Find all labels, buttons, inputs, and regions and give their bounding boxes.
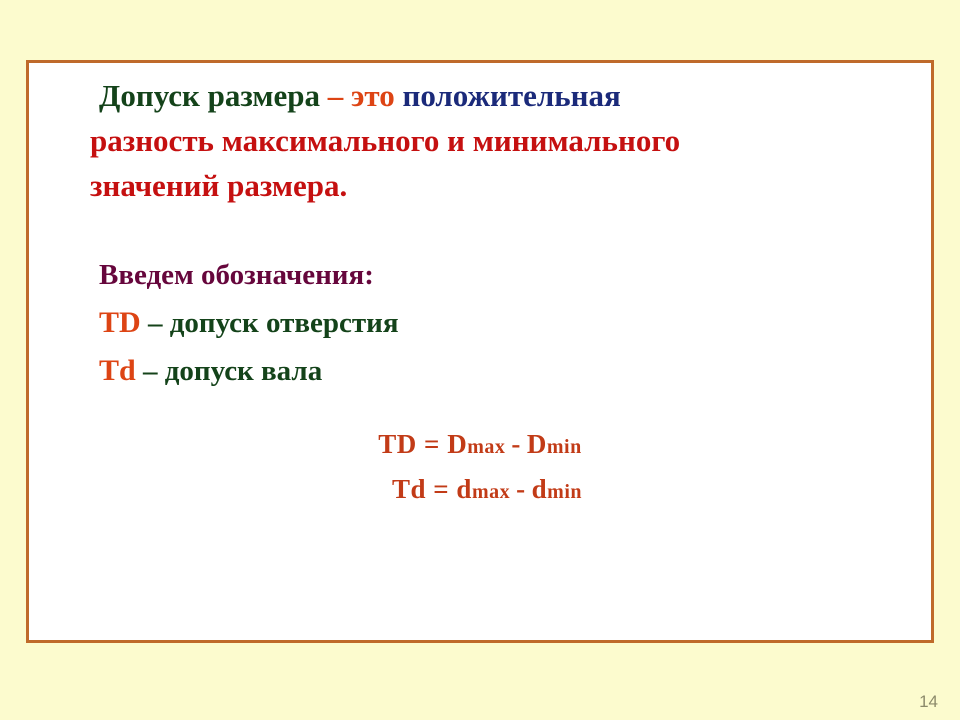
definition-line-1: Допуск размера – это положительная — [59, 73, 909, 118]
notation-item-td-shaft: Td – допуск вала — [99, 347, 859, 395]
formula-0-term2-sub: min — [547, 436, 582, 458]
definition-block: Допуск размера – это положительная разно… — [59, 73, 909, 208]
definition-copula: это — [351, 78, 395, 113]
definition-adjective: положительная — [402, 78, 620, 113]
formula-1-term1-sub: max — [472, 481, 510, 503]
formula-hole-tolerance: TD = Dmax-Dmin — [29, 423, 931, 468]
formula-shaft-tolerance: Td = dmax-dmin — [29, 468, 931, 513]
formula-0-equals: = — [417, 429, 447, 459]
formula-0-term2-base: D — [527, 429, 547, 459]
formula-1-term1-base: d — [456, 474, 472, 504]
formula-1-lhs: Td — [392, 474, 426, 504]
formula-block: TD = Dmax-Dmin Td = dmax-dmin — [29, 423, 931, 513]
notation-heading: Введем обозначения: — [99, 251, 859, 299]
formula-0-lhs: TD — [378, 429, 417, 459]
slide-content: Допуск размера – это положительная разно… — [29, 63, 931, 640]
slide-panel: Допуск размера – это положительная разно… — [26, 60, 934, 643]
notation-meaning-0: допуск отверстия — [170, 307, 399, 339]
definition-line-3: значений размера. — [59, 163, 909, 208]
notation-meaning-1: допуск вала — [165, 355, 323, 387]
notation-dash-0: – — [141, 307, 170, 339]
definition-term: Допуск размера — [99, 78, 320, 113]
definition-line-2: разность максимального и минимального — [59, 118, 909, 163]
formula-1-equals: = — [426, 474, 456, 504]
formula-0-term1-base: D — [447, 429, 467, 459]
notation-symbol-TD: TD — [99, 306, 141, 339]
definition-dash: – — [320, 78, 351, 113]
formula-0-term1-sub: max — [467, 436, 505, 458]
notation-item-td-hole: TD – допуск отверстия — [99, 299, 859, 347]
formula-1-operator: - — [510, 474, 532, 504]
notation-symbol-Td: Td — [99, 354, 136, 387]
formula-1-term2-base: d — [532, 474, 548, 504]
notation-block: Введем обозначения: TD – допуск отверсти… — [99, 251, 859, 395]
formula-0-operator: - — [505, 429, 527, 459]
formula-1-term2-sub: min — [547, 481, 582, 503]
page-number: 14 — [919, 692, 938, 712]
notation-dash-1: – — [136, 355, 165, 387]
